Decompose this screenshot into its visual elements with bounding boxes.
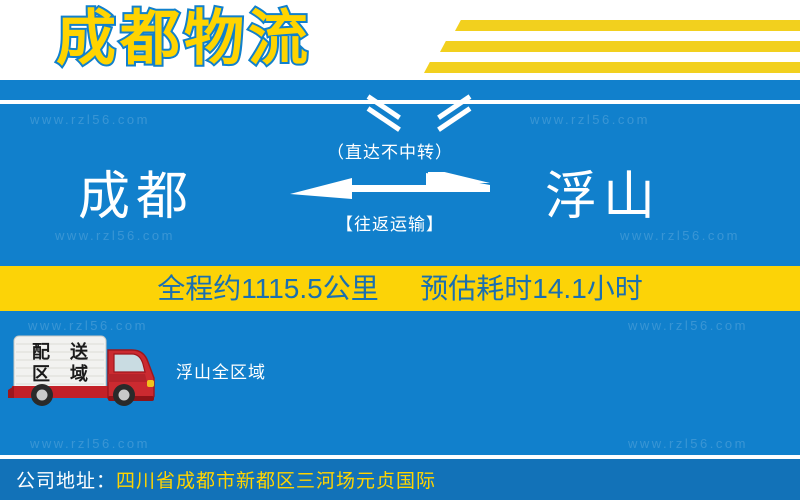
origin-city: 成都 bbox=[78, 166, 194, 228]
route-note-direct: （直达不中转） bbox=[280, 140, 500, 166]
banner-header: 成都物流 bbox=[0, 0, 800, 80]
double-arrow-icon bbox=[290, 172, 490, 206]
footer-address-bar: 公司地址： 四川省成都市新都区三河场元贞国际 bbox=[0, 459, 800, 500]
decor-stripe-2 bbox=[440, 41, 800, 52]
truck-box-char-4: 域 bbox=[60, 363, 98, 385]
logistics-banner: 成都物流 成都 浮山 （直达不中转） 【往返运输】 全程约1115.5公里 bbox=[0, 0, 800, 500]
coverage-row: 配 送 区 域 浮山全区域 bbox=[8, 334, 568, 404]
truck-box-char-3: 区 bbox=[22, 363, 60, 385]
coverage-area-text: 浮山全区域 bbox=[176, 358, 266, 383]
decor-stripe-1 bbox=[455, 20, 800, 31]
page-title: 成都物流 bbox=[56, 2, 312, 76]
footer-address-label: 公司地址： bbox=[16, 466, 116, 493]
chevron-down-icon bbox=[368, 86, 432, 120]
footer-address-value: 四川省成都市新都区三河场元贞国际 bbox=[116, 466, 436, 493]
decor-stripe-3 bbox=[424, 62, 800, 73]
route-center: （直达不中转） 【往返运输】 bbox=[280, 140, 500, 238]
distance-text: 全程约1115.5公里 预估耗时14.1小时 bbox=[157, 266, 643, 311]
route-note-roundtrip: 【往返运输】 bbox=[280, 212, 500, 238]
distance-duration: 预估耗时14.1小时 bbox=[420, 273, 643, 304]
distance-bar: 全程约1115.5公里 预估耗时14.1小时 bbox=[0, 266, 800, 311]
destination-city: 浮山 bbox=[545, 166, 661, 228]
truck-box-label: 配 送 区 域 bbox=[22, 341, 98, 385]
delivery-truck-icon: 配 送 区 域 bbox=[8, 334, 156, 406]
truck-box-char-1: 配 bbox=[22, 341, 60, 363]
truck-box-char-2: 送 bbox=[60, 341, 98, 363]
distance-length: 全程约1115.5公里 bbox=[157, 273, 379, 304]
